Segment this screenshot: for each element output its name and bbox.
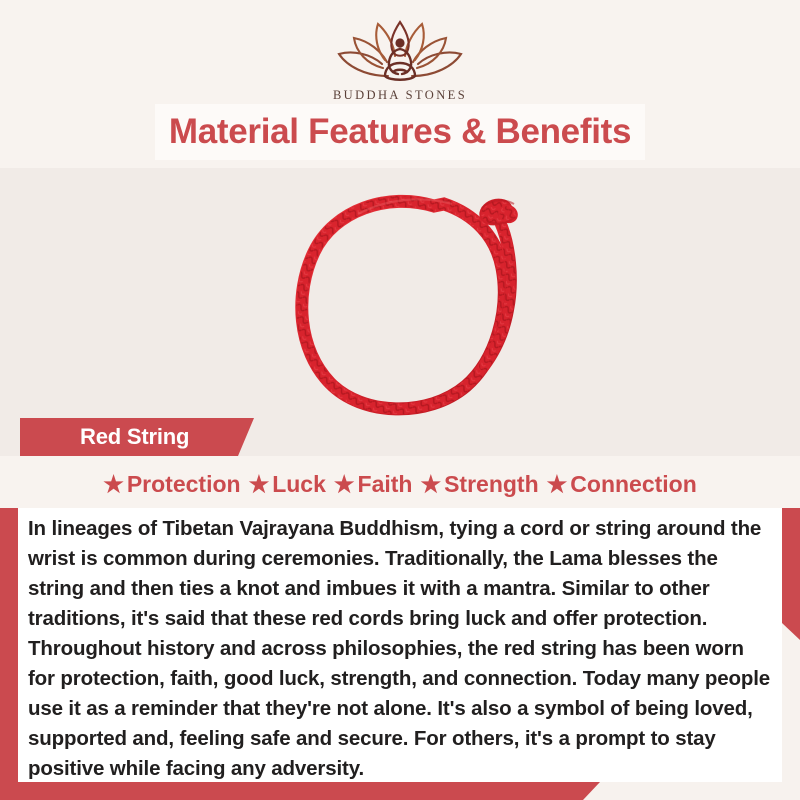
decor-band-bottom xyxy=(0,782,600,800)
benefit-label: Connection xyxy=(570,471,697,498)
benefits-row: ★ Protection ★ Luck ★ Faith ★ Strength ★… xyxy=(0,462,800,506)
page-title: Material Features & Benefits xyxy=(169,112,631,152)
benefit-label: Faith xyxy=(358,471,413,498)
product-label-banner: Red String xyxy=(20,418,254,456)
lotus-meditation-icon xyxy=(325,16,475,86)
benefit-label: Strength xyxy=(444,471,539,498)
brand-logo: BUDDHA STONES xyxy=(0,16,800,103)
red-string-bracelet-image xyxy=(238,170,568,418)
star-icon: ★ xyxy=(420,473,441,496)
benefit-item-luck: ★ Luck xyxy=(245,471,330,498)
title-plate: Material Features & Benefits xyxy=(155,104,645,160)
star-icon: ★ xyxy=(103,473,124,496)
product-photo xyxy=(0,168,800,418)
benefit-item-faith: ★ Faith xyxy=(330,471,417,498)
brand-name: BUDDHA STONES xyxy=(0,88,800,103)
star-icon: ★ xyxy=(249,473,270,496)
benefit-label: Protection xyxy=(127,471,241,498)
benefit-item-connection: ★ Connection xyxy=(543,471,701,498)
description-panel: In lineages of Tibetan Vajrayana Buddhis… xyxy=(18,508,782,782)
product-label: Red String xyxy=(80,424,189,450)
star-icon: ★ xyxy=(334,473,355,496)
star-icon: ★ xyxy=(547,473,568,496)
description-text: In lineages of Tibetan Vajrayana Buddhis… xyxy=(18,508,782,784)
benefit-item-strength: ★ Strength xyxy=(416,471,542,498)
benefit-item-protection: ★ Protection xyxy=(99,471,244,498)
infographic-page: BUDDHA STONES Material Features & Benefi… xyxy=(0,0,800,800)
benefit-label: Luck xyxy=(272,471,326,498)
